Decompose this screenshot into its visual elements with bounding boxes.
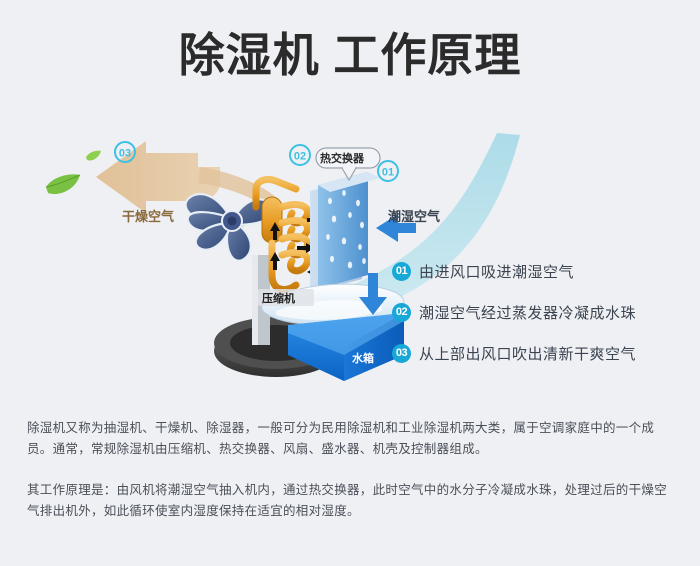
legend-item-03: 03 从上部出风口吹出清新干爽空气	[392, 340, 692, 366]
compressor-label: 压缩机	[262, 291, 295, 305]
body-paragraph-2: 其工作原理是：由风机将潮湿空气抽入机内，通过热交换器，此时空气中的水分子冷凝成水…	[27, 480, 677, 522]
marker-01-humid-air: 01 潮湿空气	[378, 161, 440, 224]
marker-03-text: 03	[119, 148, 131, 160]
legend-badge-02: 02	[392, 303, 411, 322]
heat-exchanger-label: 热交换器	[320, 151, 365, 165]
legend-badge-01: 01	[392, 262, 411, 281]
fan-icon	[186, 194, 273, 261]
water-tank-label: 水箱	[352, 351, 374, 365]
page-title: 除湿机 工作原理	[179, 32, 522, 78]
legend-text-02: 潮湿空气经过蒸发器冷凝成水珠	[419, 302, 636, 323]
legend-list: 01 由进风口吸进潮湿空气 02 潮湿空气经过蒸发器冷凝成水珠 03 从上部出风…	[392, 258, 692, 381]
legend-item-01: 01 由进风口吸进潮湿空气	[392, 258, 692, 284]
title-bar: 除湿机 工作原理	[0, 32, 700, 78]
body-paragraph-1: 除湿机又称为抽湿机、干燥机、除湿器，一般可分为民用除湿机和工业除湿机两大类，属于…	[27, 418, 677, 460]
legend-text-01: 由进风口吸进潮湿空气	[419, 261, 574, 282]
body-copy: 除湿机又称为抽湿机、干燥机、除湿器，一般可分为民用除湿机和工业除湿机两大类，属于…	[27, 418, 677, 522]
marker-02-heat-exchanger: 02	[290, 145, 310, 165]
dry-air-label: 干燥空气	[122, 209, 174, 224]
compressor-callout: 压缩机	[258, 289, 314, 306]
marker-01-text: 01	[382, 167, 394, 179]
legend-item-02: 02 潮湿空气经过蒸发器冷凝成水珠	[392, 299, 692, 325]
legend-badge-03: 03	[392, 344, 411, 363]
humid-air-label: 潮湿空气	[388, 209, 440, 224]
legend-text-03: 从上部出风口吹出清新干爽空气	[419, 343, 636, 364]
marker-02-text: 02	[294, 151, 306, 163]
